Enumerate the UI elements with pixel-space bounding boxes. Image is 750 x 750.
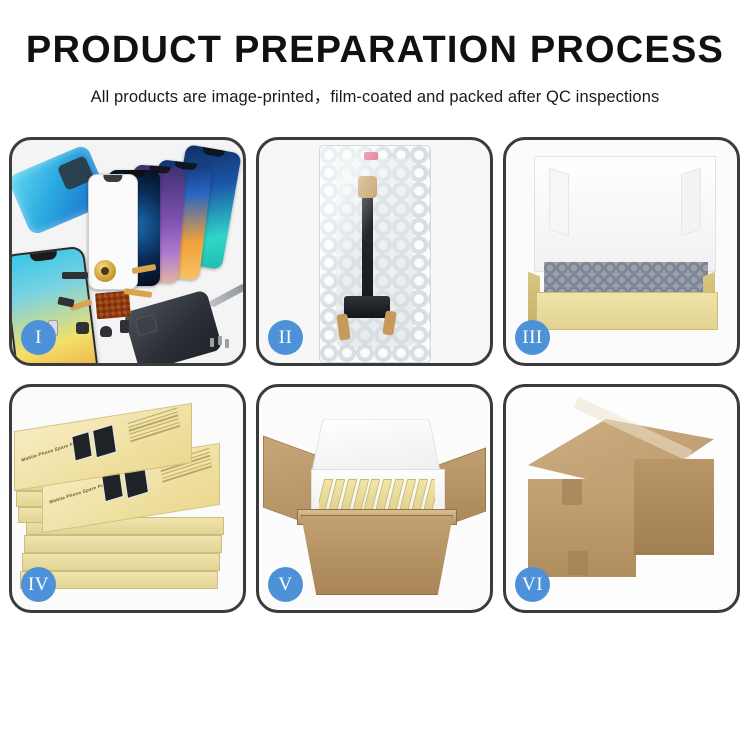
process-step-grid: I II [9, 137, 741, 613]
small-part-graphic [62, 272, 88, 279]
small-part-graphic [100, 326, 112, 337]
box-product-thumbnail [71, 431, 92, 462]
step-badge-6: VI [515, 567, 550, 602]
step-badge-3: III [515, 320, 550, 355]
small-part-graphic [76, 322, 89, 334]
box-layer [24, 535, 222, 553]
connector-block-graphic [344, 296, 390, 318]
page-subtitle: All products are image-printed，film-coat… [0, 83, 750, 107]
box-layer [22, 553, 220, 571]
yellow-tray-body-graphic [536, 292, 718, 330]
bubble-wrap-bag-graphic [319, 145, 431, 363]
process-step-card-5[interactable]: V [256, 384, 493, 613]
notch-icon [202, 147, 225, 158]
inner-box-lid-graphic [534, 156, 716, 272]
step-badge-4: IV [21, 567, 56, 602]
carton-flap-seam-bottom [568, 551, 588, 575]
process-step-card-4[interactable]: Mobile Phone Spare Parts Mobile Phone Sp… [9, 384, 246, 613]
page-title: PRODUCT PREPARATION PROCESS [0, 30, 750, 72]
notch-icon [103, 175, 122, 182]
page-header: PRODUCT PREPARATION PROCESS All products… [0, 30, 750, 107]
product-preparation-page: PRODUCT PREPARATION PROCESS All products… [0, 0, 750, 750]
speaker-coil-graphic [94, 260, 116, 282]
step-badge-5: V [268, 567, 303, 602]
process-step-card-3[interactable]: III [503, 137, 740, 366]
lid-right-flap [681, 168, 701, 236]
process-step-card-6[interactable]: VI [503, 384, 740, 613]
step-badge-1: I [21, 320, 56, 355]
carton-flap-seam-top [562, 479, 582, 505]
box-brand-label: Mobile Phone Spare Parts [49, 481, 111, 505]
step-badge-2: II [268, 320, 303, 355]
bubble-foam-insert-graphic [544, 262, 708, 296]
carton-side-face [634, 459, 714, 555]
box-product-thumbnail [92, 424, 117, 458]
phone-back-housing-graphic [123, 289, 223, 363]
screws-graphic [210, 336, 232, 348]
pink-tape-graphic [364, 152, 378, 160]
box-spec-lines [128, 408, 181, 445]
display-flex-cable-graphic [362, 194, 373, 306]
process-step-card-2[interactable]: II [256, 137, 493, 366]
small-part-graphic [120, 320, 129, 333]
lid-left-flap [549, 168, 569, 236]
carton-body-graphic [301, 515, 453, 595]
process-step-card-1[interactable]: I [9, 137, 246, 366]
connector-board-graphic [95, 291, 131, 320]
